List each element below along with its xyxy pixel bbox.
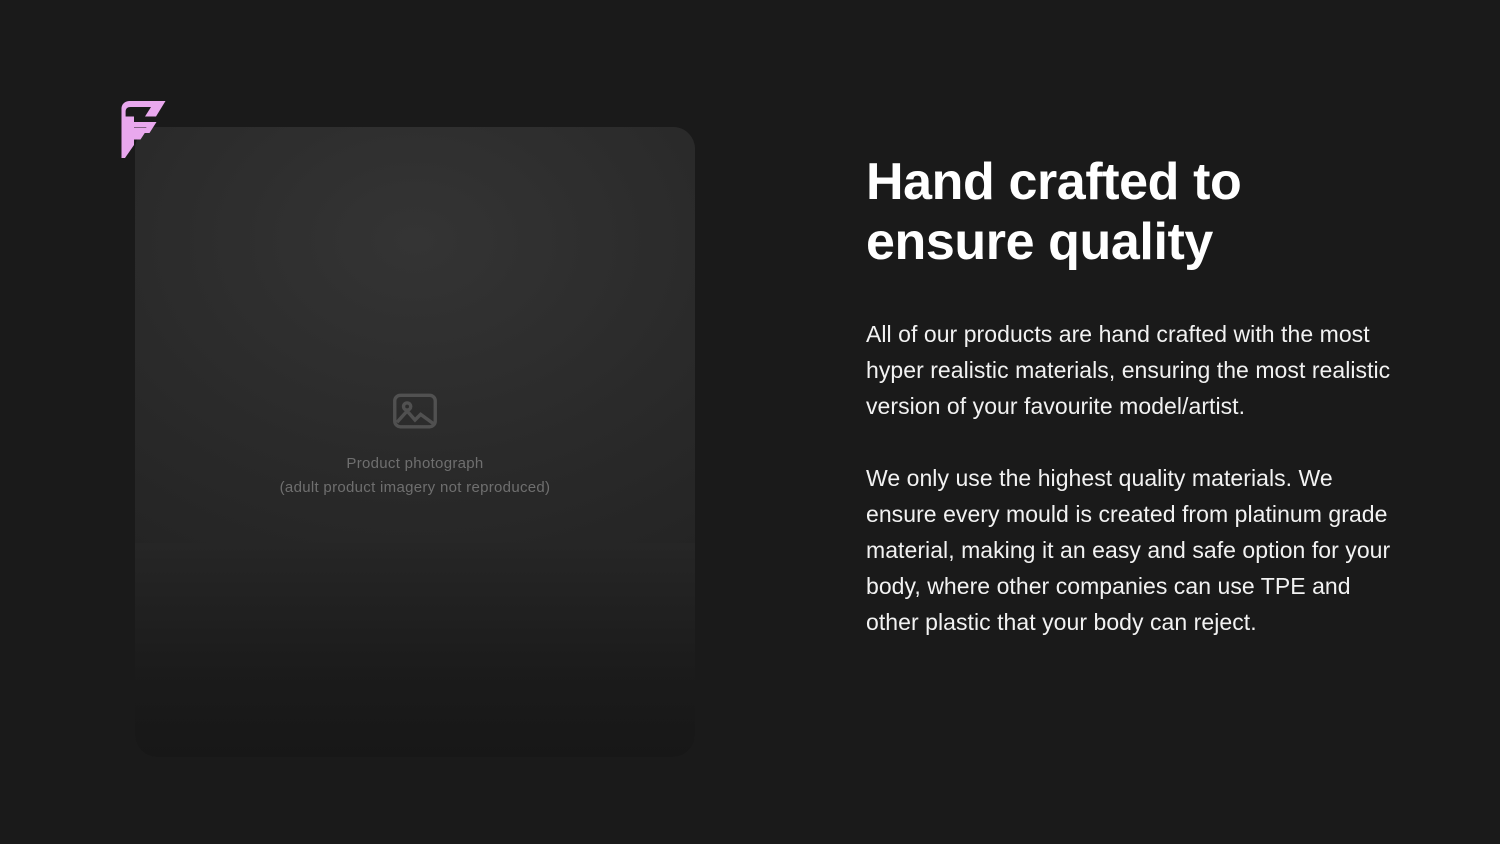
- product-photo-card: Product photograph (adult product imager…: [135, 127, 695, 757]
- stylized-letter-f-logo[interactable]: [104, 92, 176, 164]
- marketing-slide: Product photograph (adult product imager…: [0, 0, 1500, 844]
- photo-placeholder-sublabel: (adult product imagery not reproduced): [280, 479, 551, 496]
- image-icon: [388, 384, 442, 438]
- body-copy: All of our products are hand crafted wit…: [866, 316, 1406, 640]
- page-title: Hand crafted to ensure quality: [866, 152, 1336, 272]
- photo-placeholder-note: Product photograph (adult product imager…: [135, 384, 695, 500]
- text-column: Hand crafted to ensure quality All of ou…: [866, 152, 1406, 640]
- photo-placeholder-label: Product photograph: [346, 455, 483, 472]
- body-paragraph: All of our products are hand crafted wit…: [866, 316, 1406, 424]
- body-paragraph: We only use the highest quality material…: [866, 460, 1406, 640]
